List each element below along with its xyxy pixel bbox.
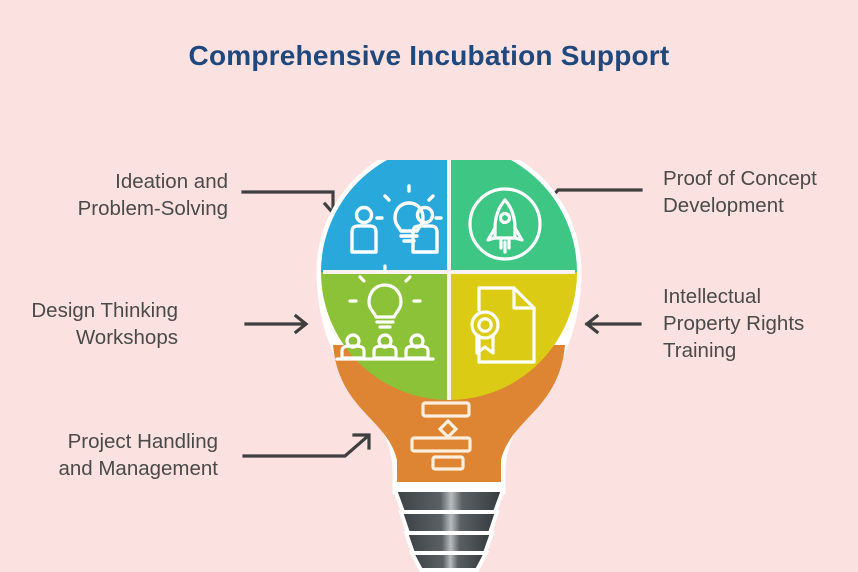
- arrow-ipr-icon: [587, 316, 640, 332]
- label-design-thinking-workshops: Design Thinking Workshops: [0, 297, 178, 351]
- label-intellectual-property-rights-training: Intellectual Property Rights Training: [663, 283, 858, 364]
- label-project-handling-and-management: Project Handling and Management: [0, 428, 218, 482]
- bulb-screw-base: [395, 490, 503, 572]
- page-title: Comprehensive Incubation Support: [0, 40, 858, 72]
- arrow-design-thinking-icon: [246, 316, 306, 332]
- label-ideation-and-problem-solving: Ideation and Problem-Solving: [0, 168, 228, 222]
- label-proof-of-concept-development: Proof of Concept Development: [663, 165, 858, 219]
- lightbulb-diagram: [309, 160, 589, 572]
